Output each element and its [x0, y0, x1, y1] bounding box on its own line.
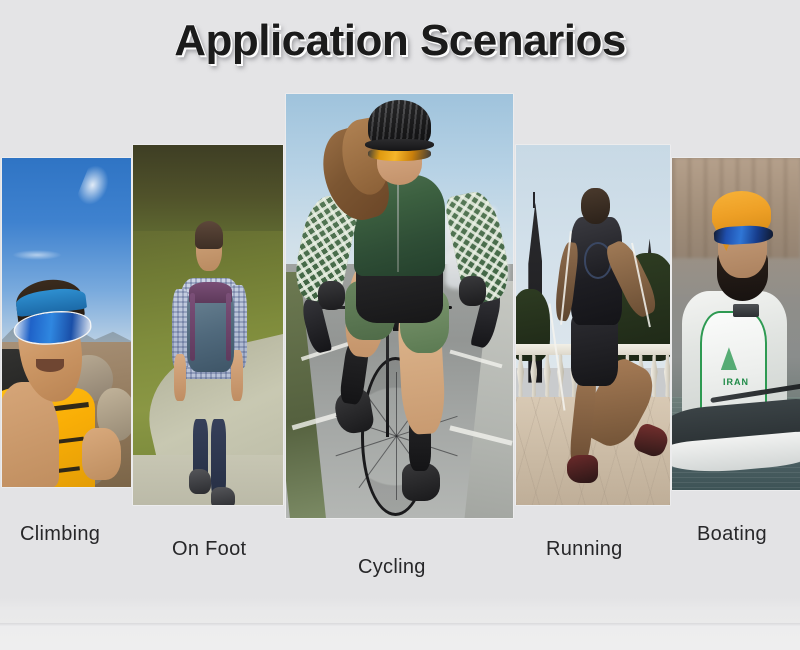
scenario-label-cycling: Cycling: [358, 556, 426, 579]
brand-tag: [733, 304, 759, 317]
backpack-strap: [190, 293, 195, 361]
page-title: Application Scenarios: [0, 16, 800, 66]
boating-scene: IRAN: [672, 158, 800, 490]
baluster: [517, 354, 524, 397]
scenario-image-boating[interactable]: IRAN: [672, 158, 800, 490]
backpack-strap: [226, 293, 231, 361]
baluster: [530, 354, 537, 397]
cycling-glove: [459, 276, 486, 306]
scenario-label-running: Running: [546, 538, 623, 561]
scenario-image-climbing[interactable]: [2, 158, 131, 487]
scenario-banner: Application Scenarios: [0, 0, 800, 650]
scenario-label-boating: Boating: [697, 523, 767, 546]
bottom-strip: [0, 623, 800, 650]
climbing-scene: [2, 158, 131, 487]
baluster: [664, 354, 670, 397]
running-shoe: [567, 455, 598, 484]
vest-country-text: IRAN: [705, 377, 766, 387]
hair: [195, 221, 224, 250]
jersey-zipper: [397, 179, 399, 272]
cloud-icon: [12, 250, 62, 260]
cycling-glove: [318, 281, 345, 311]
hiking-shoe: [189, 469, 212, 494]
running-scene: [516, 145, 670, 505]
church-finial: [533, 192, 535, 208]
head: [581, 188, 610, 224]
scenario-label-on-foot: On Foot: [172, 538, 246, 561]
cycling-scene: [286, 94, 513, 518]
hand: [82, 428, 121, 481]
scenario-image-cycling[interactable]: [286, 94, 513, 518]
baluster: [544, 354, 551, 397]
arm: [174, 354, 186, 401]
smile: [36, 359, 64, 372]
scenario-image-running[interactable]: [516, 145, 670, 505]
scenario-label-climbing: Climbing: [20, 523, 100, 546]
hiking-shoe: [211, 487, 235, 505]
bicycle-fork: [386, 327, 389, 437]
distant-hill: [133, 145, 283, 231]
helmet-rim: [365, 139, 433, 152]
scenario-image-on-foot[interactable]: [133, 145, 283, 505]
on-foot-scene: [133, 145, 283, 505]
